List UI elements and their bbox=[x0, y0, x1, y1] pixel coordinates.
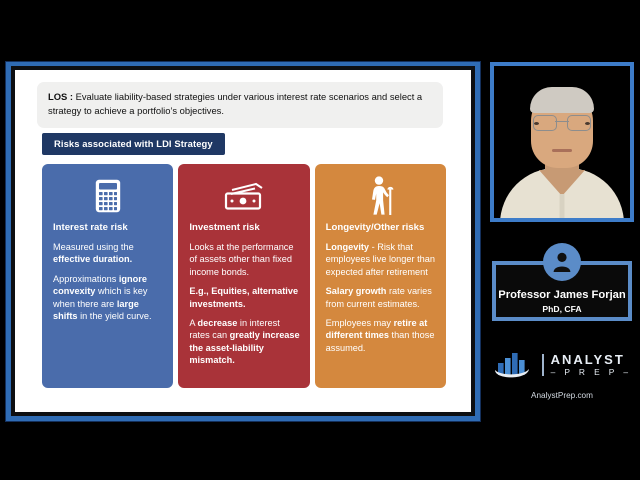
los-text: Evaluate liability-based strategies unde… bbox=[48, 91, 422, 116]
brand-url: AnalystPrep.com bbox=[490, 391, 634, 400]
logo-word-prep: – P R E P – bbox=[551, 368, 632, 376]
risk-card-title: Interest rate risk bbox=[53, 222, 163, 234]
risk-card-paragraph: E.g., Equities, alternative investments. bbox=[189, 285, 299, 310]
slide-canvas: LOS : Evaluate liability-based strategie… bbox=[15, 70, 471, 412]
risk-card-body: Measured using the effective duration.Ap… bbox=[53, 241, 163, 322]
logo-divider bbox=[542, 354, 544, 376]
risk-card-longevity: Longevity/Other risks Longevity - Risk t… bbox=[315, 164, 446, 388]
risk-card-body: Looks at the performance of assets other… bbox=[189, 241, 299, 367]
risk-cards: Interest rate risk Measured using the ef… bbox=[42, 164, 446, 388]
presenter-name: Professor James Forjan bbox=[490, 289, 634, 301]
risk-card-paragraph: Employees may retire at different times … bbox=[326, 317, 436, 354]
risk-card-investment: Investment risk Looks at the performance… bbox=[178, 164, 309, 388]
risk-card-paragraph: Approximations ignore convexity which is… bbox=[53, 273, 163, 323]
presenter-mouth bbox=[552, 149, 572, 152]
slide-frame: LOS : Evaluate liability-based strategie… bbox=[6, 62, 480, 421]
brand-logo-block: ANALYST – P R E P – AnalystPrep.com bbox=[490, 348, 634, 400]
presenter-name-block: Professor James Forjan PhD, CFA bbox=[490, 243, 634, 335]
presenter-video[interactable] bbox=[494, 66, 630, 218]
section-banner: Risks associated with LDI Strategy bbox=[42, 133, 225, 155]
presenter-credentials: PhD, CFA bbox=[490, 304, 634, 314]
risk-card-title: Investment risk bbox=[189, 222, 299, 234]
logo-word-analyst: ANALYST bbox=[551, 353, 632, 366]
risk-card-paragraph: Longevity - Risk that employees live lon… bbox=[326, 241, 436, 278]
screen: LOS : Evaluate liability-based strategie… bbox=[0, 0, 640, 480]
presenter-placket bbox=[560, 194, 565, 218]
money-cash-icon bbox=[189, 174, 299, 218]
risk-card-paragraph: Measured using the effective duration. bbox=[53, 241, 163, 266]
los-statement-box: LOS : Evaluate liability-based strategie… bbox=[37, 82, 443, 128]
calculator-icon bbox=[53, 174, 163, 218]
elderly-person-cane-icon bbox=[326, 174, 436, 218]
presenter-video-frame bbox=[490, 62, 634, 222]
risk-card-paragraph: Looks at the performance of assets other… bbox=[189, 241, 299, 278]
avatar bbox=[543, 243, 581, 281]
glasses-icon bbox=[533, 115, 591, 130]
risk-card-paragraph: Salary growth rate varies from current e… bbox=[326, 285, 436, 310]
bar-chart-logo-icon bbox=[493, 349, 535, 381]
presenter-hair bbox=[530, 87, 594, 113]
risk-card-body: Longevity - Risk that employees live lon… bbox=[326, 241, 436, 354]
risk-card-title: Longevity/Other risks bbox=[326, 222, 436, 234]
risk-card-interest-rate: Interest rate risk Measured using the ef… bbox=[42, 164, 173, 388]
risk-card-paragraph: A decrease in interest rates can greatly… bbox=[189, 317, 299, 367]
los-label: LOS : bbox=[48, 91, 73, 102]
